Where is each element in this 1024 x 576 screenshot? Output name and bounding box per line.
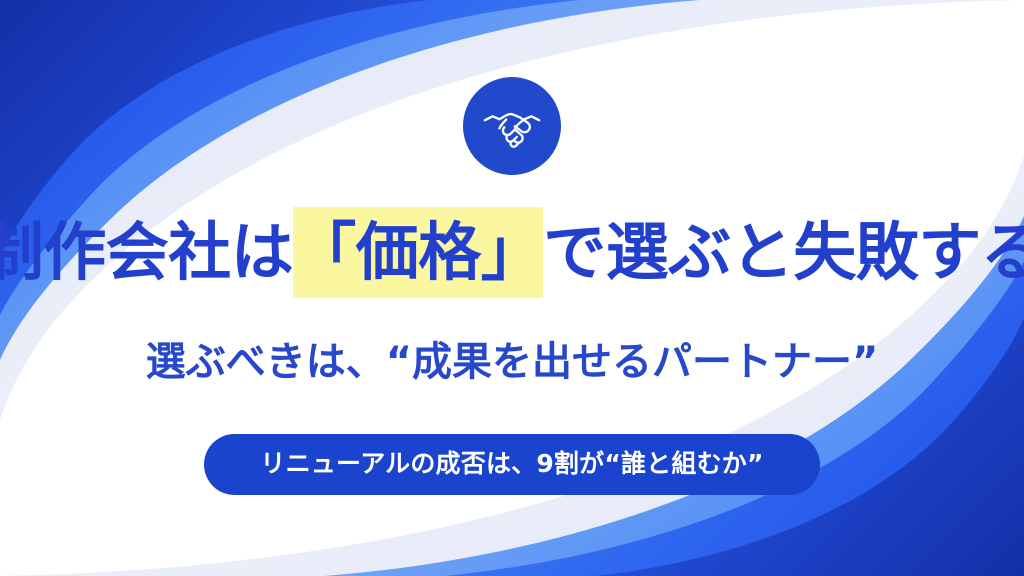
- subtitle: 選ぶべきは、“成果を出せるパートナー”: [0, 338, 1024, 386]
- tagline-badge: リニューアルの成否は、9割が“誰と組むか”: [204, 434, 819, 495]
- handshake-icon: [481, 95, 543, 157]
- headline: 制作会社は「価格」で選ぶと失敗する: [0, 202, 1024, 302]
- slide-canvas: 制作会社は「価格」で選ぶと失敗する 選ぶべきは、“成果を出せるパートナー” リニ…: [0, 0, 1024, 576]
- headline-segment-highlighted: 「価格」: [293, 207, 543, 298]
- headline-segment-1: 制作会社は: [0, 207, 293, 298]
- headline-segment-3: で選ぶと失敗する: [543, 207, 1024, 298]
- handshake-icon-badge: [463, 77, 561, 175]
- badge-container: リニューアルの成否は、9割が“誰と組むか”: [0, 434, 1024, 495]
- slide-content: 制作会社は「価格」で選ぶと失敗する 選ぶべきは、“成果を出せるパートナー” リニ…: [0, 0, 1024, 576]
- headline-text: 制作会社は「価格」で選ぶと失敗する: [0, 207, 1024, 298]
